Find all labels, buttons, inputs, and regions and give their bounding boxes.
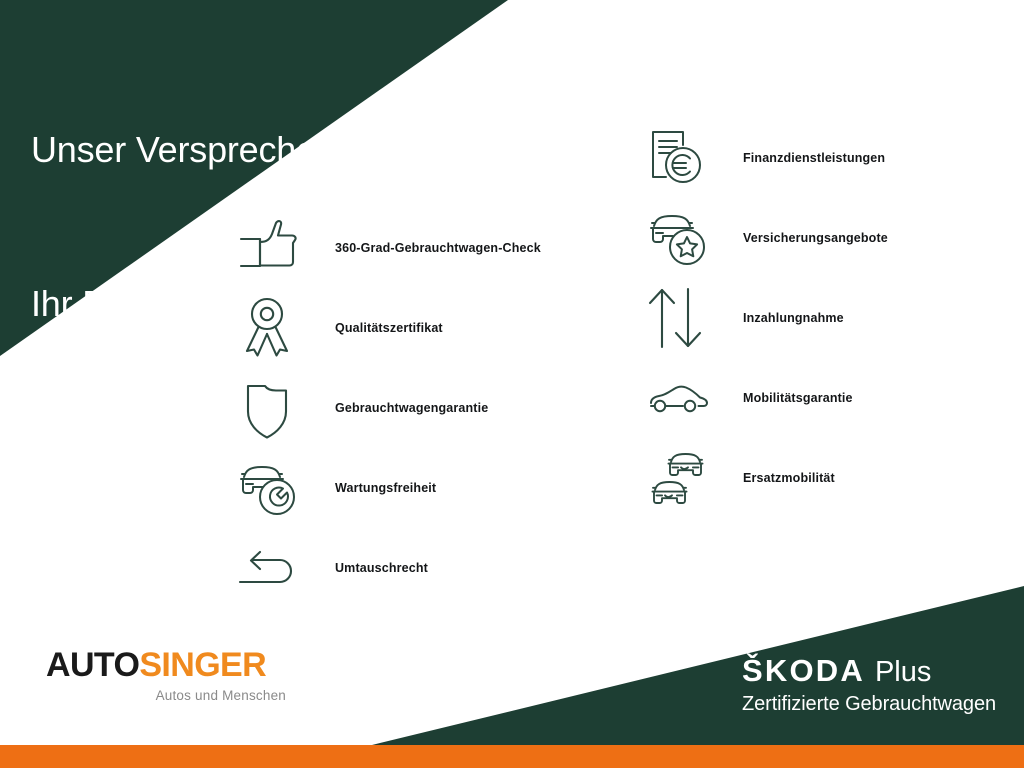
return-arrow-icon — [238, 537, 304, 599]
feature-label: Gebrauchtwagengarantie — [335, 401, 488, 415]
dealer-logo: AUTOSINGER Autos und Menschen — [46, 648, 286, 703]
feature-item-financial-services: Finanzdienstleistungen — [648, 118, 888, 198]
feature-label: Inzahlungnahme — [743, 311, 844, 325]
up-down-arrows-icon — [648, 287, 714, 349]
feature-label: Mobilitätsgarantie — [743, 391, 853, 405]
orange-footer-bar — [0, 745, 1024, 768]
car-star-icon — [648, 207, 714, 269]
skoda-brand-wordmark: ŠKODA — [742, 655, 865, 686]
shield-icon — [238, 377, 304, 439]
feature-item-replacement-mobility: Ersatzmobilität — [648, 438, 888, 518]
feature-label: Wartungsfreiheit — [335, 481, 436, 495]
feature-item-return-right: Umtauschrecht — [238, 528, 541, 608]
promotional-banner: Unser Versprechen. Ihr Plus. 360-Grad-Ge… — [0, 0, 1024, 768]
document-euro-icon — [648, 127, 714, 189]
feature-label: 360-Grad-Gebrauchtwagen-Check — [335, 241, 541, 255]
two-cars-icon — [648, 447, 714, 509]
feature-item-trade-in: Inzahlungnahme — [648, 278, 888, 358]
feature-label: Umtauschrecht — [335, 561, 428, 575]
feature-label: Finanzdienstleistungen — [743, 151, 885, 165]
dealer-tagline: Autos und Menschen — [46, 688, 286, 703]
feature-label: Qualitätszertifikat — [335, 321, 443, 335]
skoda-brandline: ŠKODA Plus — [742, 655, 996, 687]
dealer-wordmark: AUTOSINGER — [46, 648, 286, 682]
feature-item-quality-certificate: Qualitätszertifikat — [238, 288, 541, 368]
feature-item-insurance: Versicherungsangebote — [648, 198, 888, 278]
feature-item-360-check: 360-Grad-Gebrauchtwagen-Check — [238, 208, 541, 288]
thumbs-up-icon — [238, 217, 304, 279]
skoda-subtitle: Zertifizierte Gebrauchtwagen — [742, 693, 996, 716]
dealer-name-part1: AUTO — [46, 646, 139, 684]
feature-item-maintenance-free: Wartungsfreiheit — [238, 448, 541, 528]
feature-item-warranty: Gebrauchtwagengarantie — [238, 368, 541, 448]
feature-list-right: Finanzdienstleistungen Versicherungsange… — [648, 118, 888, 518]
award-rosette-icon — [238, 297, 304, 359]
feature-label: Versicherungsangebote — [743, 231, 888, 245]
skoda-product-name: Plus — [875, 658, 931, 687]
headline-line-1: Unser Versprechen. — [31, 124, 346, 175]
skoda-plus-logo: ŠKODA Plus Zertifizierte Gebrauchtwagen — [742, 655, 996, 716]
car-wrench-icon — [238, 457, 304, 519]
feature-item-mobility-guarantee: Mobilitätsgarantie — [648, 358, 888, 438]
car-side-icon — [648, 367, 714, 429]
feature-list-left: 360-Grad-Gebrauchtwagen-Check Qualitätsz… — [238, 208, 541, 608]
feature-label: Ersatzmobilität — [743, 471, 835, 485]
dealer-name-part2: SINGER — [139, 646, 266, 684]
